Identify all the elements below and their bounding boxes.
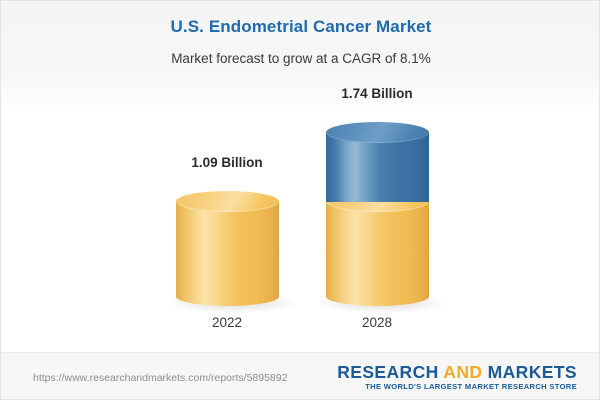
cylinder-top-2028 [326, 122, 429, 143]
cylinder-2022 [176, 191, 279, 306]
plot-area: 1.09 Billion 2022 1.74 Billion [1, 87, 600, 349]
logo-word-and-text: AND [443, 362, 482, 382]
cylinder-segment-base-2028 [326, 201, 429, 297]
cylinder-2028 [326, 122, 429, 306]
category-label-2028: 2028 [297, 315, 457, 330]
bar-value-label-2028: 1.74 Billion [297, 86, 457, 101]
report-url-link[interactable]: https://www.researchandmarkets.com/repor… [33, 372, 287, 384]
cylinder-top-2022 [176, 191, 279, 212]
category-label-2022: 2022 [147, 315, 307, 330]
cylinder-body-2022 [176, 201, 279, 297]
logo-word-research: RESEARCH [337, 362, 438, 382]
bar-group-2022: 1.09 Billion 2022 [147, 87, 307, 349]
bar-group-2028: 1.74 Billion 2028 [297, 87, 457, 349]
logo-word-markets: MARKETS [488, 362, 577, 382]
chart-infographic: U.S. Endometrial Cancer Market Market fo… [0, 0, 600, 400]
research-and-markets-logo[interactable]: RESEARCH AND MARKETS THE WORLD'S LARGEST… [337, 363, 577, 392]
chart-subtitle: Market forecast to grow at a CAGR of 8.1… [1, 51, 600, 66]
logo-tagline: THE WORLD'S LARGEST MARKET RESEARCH STOR… [337, 382, 577, 392]
page-title: U.S. Endometrial Cancer Market [1, 17, 600, 37]
logo-wordmark: RESEARCH AND MARKETS [337, 363, 577, 382]
bar-value-label-2022: 1.09 Billion [147, 155, 307, 170]
